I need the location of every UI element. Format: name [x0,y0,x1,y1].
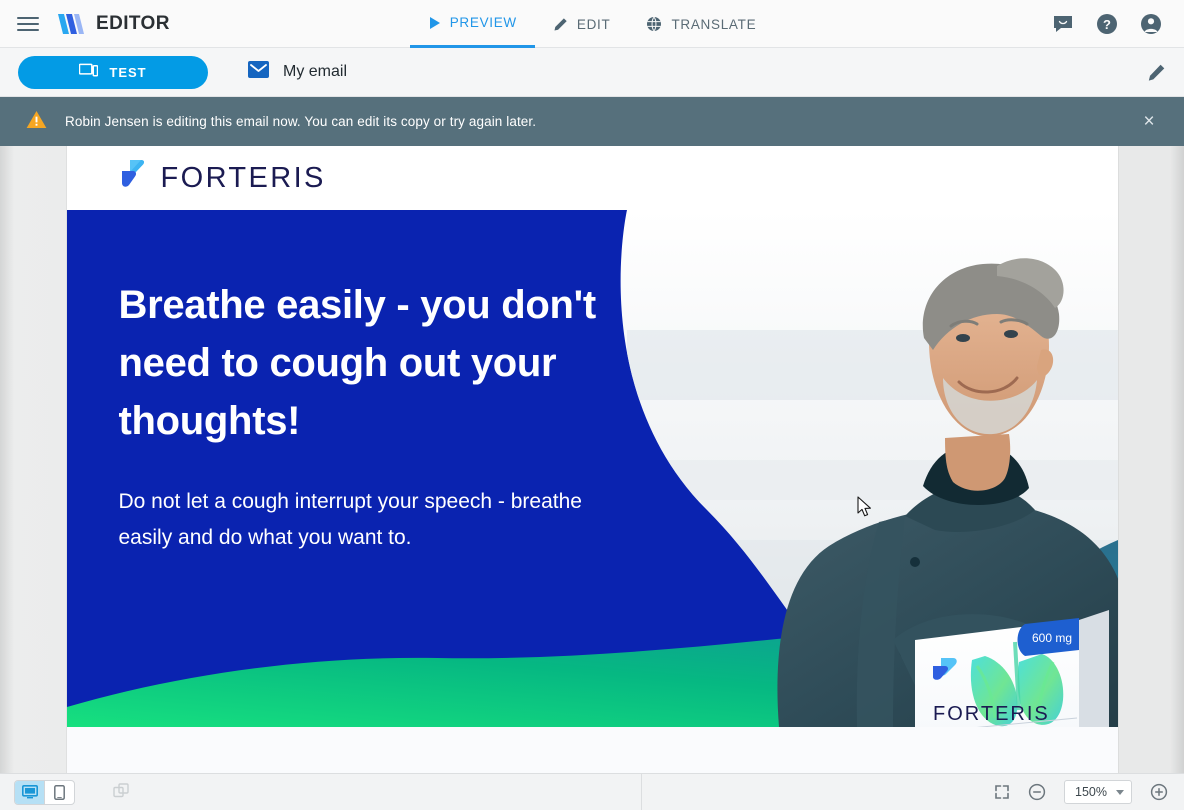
editor-logo-icon [56,11,86,37]
zoom-controls: 150% [994,780,1184,804]
email-tab[interactable]: My email [248,61,347,83]
email-preview-canvas[interactable]: FORTERIS [0,146,1184,773]
email-tab-label: My email [283,63,347,81]
editor-app: EDITOR PREVIEW EDIT [0,0,1184,810]
top-toolbar: EDITOR PREVIEW EDIT [0,0,1184,48]
tab-preview[interactable]: PREVIEW [410,0,535,48]
play-icon [428,16,441,30]
device-preview-icon [79,63,98,81]
email-document: FORTERIS [67,146,1118,773]
product-dosage-text: 600 mg [1031,631,1071,645]
hero-headline: Breathe easily - you don't need to cough… [119,276,607,450]
desktop-view-icon[interactable] [15,781,44,804]
hero-copy: Breathe easily - you don't need to cough… [67,210,607,556]
brand-name: EDITOR [96,13,170,35]
email-hero-section: 600 mg FORTERIS Acetylcysteine 24 capsul… [67,210,1118,727]
close-icon[interactable]: × [1132,105,1166,139]
forteris-logo-text: FORTERIS [161,162,326,195]
mobile-view-icon[interactable] [45,781,74,804]
tab-translate-label: TRANSLATE [671,17,756,32]
test-button[interactable]: TEST [18,56,208,89]
hamburger-menu-icon[interactable] [0,0,56,47]
product-name-text: FORTERIS [933,703,1050,725]
bottom-toolbar: 150% [0,773,1184,810]
email-footer-spacer [67,727,1118,773]
brand: EDITOR [56,0,170,47]
viewport-toggle [14,780,75,805]
view-mode-tabs: PREVIEW EDIT TRANSLATE [0,0,1184,48]
help-icon[interactable]: ? [1096,13,1118,35]
email-logo-row: FORTERIS [67,146,1118,210]
feedback-icon[interactable] [1052,13,1074,35]
document-toolbar: TEST My email [0,48,1184,97]
hamburger-bars [17,13,39,35]
zoom-level-select[interactable]: 150% [1064,780,1132,804]
zoom-in-icon[interactable] [1150,783,1168,801]
top-toolbar-actions: ? [1052,0,1184,47]
tab-preview-label: PREVIEW [450,15,517,30]
account-icon[interactable] [1140,13,1162,35]
zoom-out-icon[interactable] [1028,783,1046,801]
warning-triangle-icon [26,110,47,134]
envelope-icon [248,61,269,83]
forteris-lung-logo-icon [119,158,147,199]
hero-subtext: Do not let a cough interrupt your speech… [119,484,607,556]
pencil-edit-icon[interactable] [1147,63,1166,82]
globe-icon [646,16,662,32]
zoom-level-value: 150% [1075,785,1107,799]
duplicate-icon[interactable] [113,783,131,801]
chevron-down-icon [1116,790,1124,795]
notification-banner: Robin Jensen is editing this email now. … [0,97,1184,146]
tab-edit[interactable]: EDIT [535,0,629,48]
test-button-label: TEST [109,65,146,80]
svg-text:?: ? [1103,17,1111,32]
bottom-separator-1 [641,774,642,810]
tab-edit-label: EDIT [577,17,611,32]
forteris-logo: FORTERIS [119,158,326,199]
fullscreen-icon[interactable] [994,784,1010,800]
notification-message: Robin Jensen is editing this email now. … [65,114,536,129]
tab-translate[interactable]: TRANSLATE [628,0,774,48]
pencil-icon [553,17,568,32]
